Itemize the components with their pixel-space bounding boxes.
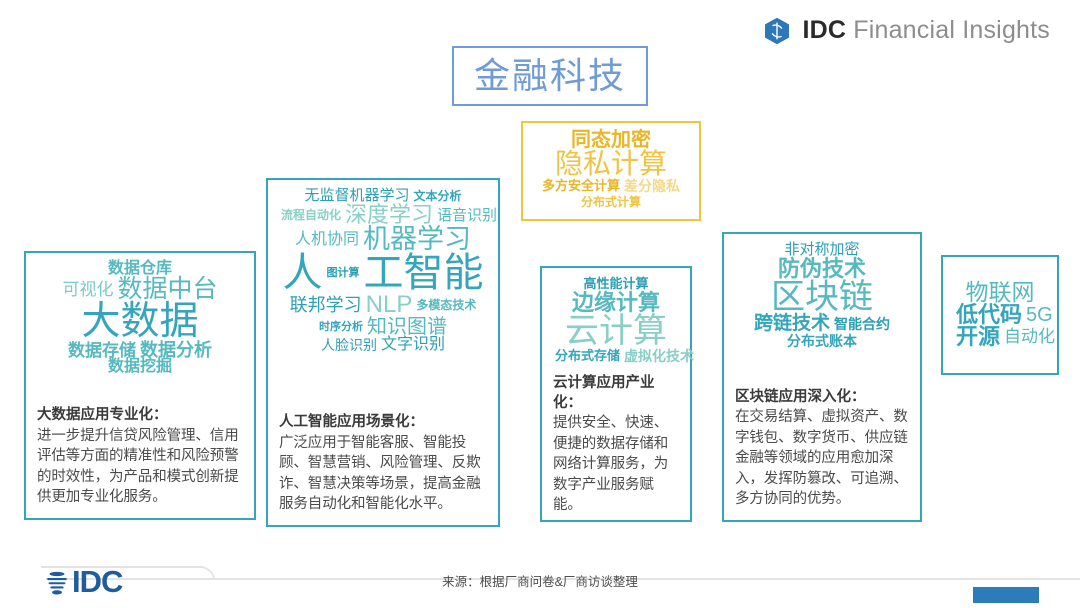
word-cloud-term: 数据挖掘 [108,359,172,375]
word-cloud-iot: 物联网低代码5G开源自动化 [954,281,1046,348]
tech-card-blockchain: 非对称加密防伪技术区块链跨链技术智能合约分布式账本 区块链应用深入化： 在交易结… [722,232,922,522]
tech-card-iot: 物联网低代码5G开源自动化 [941,255,1059,375]
word-cloud-term: 多模态技术 [416,299,476,311]
word-cloud-term: 数据中台 [117,277,217,302]
word-cloud-term: 人 [283,253,323,293]
word-cloud-term: 差分隐私 [624,179,680,193]
corner-accent-block [973,587,1039,603]
word-cloud-term: 联邦学习 [290,296,362,314]
tech-card-bigdata: 数据仓库可视化数据中台大数据数据存储数据分析数据挖掘 大数据应用专业化： 进一步… [24,251,256,520]
word-cloud-term: 同态加密 [571,130,651,150]
word-cloud-term: 文本分析 [414,190,462,202]
word-cloud-line: 分布式账本 [735,333,909,349]
word-cloud-term: 5G [1026,305,1053,325]
page-title: 金融科技 [452,46,648,106]
word-cloud-term: 开源 [956,326,1000,348]
word-cloud-blockchain: 非对称加密防伪技术区块链跨链技术智能合约分布式账本 [735,242,909,349]
word-cloud-term: 虚拟化技术 [624,349,694,363]
word-cloud-term: 云计算 [565,314,667,348]
word-cloud-term: 跨链技术 [754,314,830,333]
word-cloud-line: 同态加密 [534,130,688,150]
word-cloud-line: 跨链技术智能合约 [735,314,909,333]
word-cloud-term: 图计算 [327,268,360,279]
word-cloud-ai: 无监督机器学习文本分析流程自动化深度学习语音识别人机协同机器学习人图计算工智能联… [279,188,487,353]
word-cloud-line: 人脸识别文字识别 [279,337,487,353]
word-cloud-term: 分布式存储 [555,349,620,362]
word-cloud-term: 多方安全计算 [542,179,620,192]
word-cloud-term: 时序分析 [319,322,363,333]
page-title-label: 金融科技 [474,58,626,94]
idc-hex-logo-icon [764,17,790,45]
source-note: 来源：根据厂商问卷&厂商访谈整理 [0,571,1080,590]
word-cloud-term: 人机协同 [295,232,359,248]
word-cloud-term: 文字识别 [381,337,445,353]
word-cloud-term: 数据存储 [68,342,136,359]
word-cloud-term: 高性能计算 [583,277,648,290]
card-body-text: 进一步提升信贷风险管理、信用评估等方面的精准性和风险预警的时效性，为产品和模式创… [37,426,243,508]
word-cloud-line: 云计算 [553,314,679,348]
card-body-text: 在交易结算、虚拟资产、数字钱包、数字货币、供应链金融等领域的应用愈加深入，发挥防… [735,407,909,510]
word-cloud-term: 工智能 [364,253,484,293]
word-cloud-line: 边缘计算 [553,292,679,314]
word-cloud-line: 人机协同机器学习 [279,226,487,253]
tech-card-privacy-computing: 同态加密隐私计算多方安全计算差分隐私分布式计算 [521,121,701,221]
word-cloud-line: 分布式计算 [534,194,688,210]
word-cloud-line: 人图计算工智能 [279,253,487,293]
word-cloud-line: 防伪技术 [735,258,909,280]
word-cloud-line: 大数据 [37,302,243,341]
word-cloud-term: 分布式计算 [581,196,641,208]
word-cloud-line: 时序分析知识图谱 [279,317,487,337]
word-cloud-privacy-computing: 同态加密隐私计算多方安全计算差分隐私分布式计算 [534,130,688,210]
card-body-heading: 云计算应用产业化： [553,364,679,413]
card-body-text: 提供安全、快速、便捷的数据存储和网络计算服务，为数字产业服务赋能。 [553,413,679,516]
word-cloud-term: 低代码 [956,304,1022,326]
word-cloud-term: 机器学习 [363,226,471,253]
word-cloud-line: 多方安全计算差分隐私 [534,178,688,194]
tech-card-cloud-computing: 高性能计算边缘计算云计算分布式存储虚拟化技术 云计算应用产业化： 提供安全、快速… [540,266,692,522]
word-cloud-line: 联邦学习NLP多模态技术 [279,293,487,317]
word-cloud-term: NLP [366,293,413,317]
word-cloud-line: 隐私计算 [534,150,688,178]
word-cloud-term: 可视化 [62,281,113,298]
word-cloud-term: 人脸识别 [321,338,377,352]
word-cloud-term: 流程自动化 [281,209,341,221]
word-cloud-term: 区块链 [771,280,873,314]
word-cloud-line: 区块链 [735,280,909,314]
card-body-heading: 人工智能应用场景化： [279,403,487,433]
word-cloud-term: 大数据 [81,302,198,341]
word-cloud-line: 开源自动化 [954,326,1046,348]
word-cloud-cloud-computing: 高性能计算边缘计算云计算分布式存储虚拟化技术 [553,276,679,364]
word-cloud-line: 低代码5G [954,304,1046,326]
word-cloud-term: 知识图谱 [367,317,447,337]
word-cloud-line: 数据挖掘 [37,359,243,375]
tech-card-ai: 无监督机器学习文本分析流程自动化深度学习语音识别人机协同机器学习人图计算工智能联… [266,178,500,527]
word-cloud-term: 分布式账本 [787,334,857,348]
word-cloud-bigdata: 数据仓库可视化数据中台大数据数据存储数据分析数据挖掘 [37,261,243,375]
card-body-heading: 区块链应用深入化： [735,378,909,408]
word-cloud-term: 智能合约 [834,317,890,331]
word-cloud-term: 自动化 [1004,328,1055,345]
word-cloud-line: 可视化数据中台 [37,277,243,302]
word-cloud-term: 语音识别 [437,208,497,223]
word-cloud-term: 深度学习 [345,204,433,226]
brand-name-bold: IDC [802,16,846,44]
brand-name: IDC Financial Insights [802,16,1050,45]
word-cloud-line: 分布式存储虚拟化技术 [553,348,679,364]
word-cloud-line: 数据存储数据分析 [37,341,243,359]
word-cloud-term: 隐私计算 [555,150,667,178]
card-body-text: 广泛应用于智能客服、智能投顾、智慧营销、风险管理、反欺诈、智慧决策等场景，提高金… [279,433,487,515]
word-cloud-term: 防伪技术 [778,258,866,280]
word-cloud-term: 物联网 [966,281,1035,304]
brand-name-light: Financial Insights [846,16,1050,44]
word-cloud-term: 边缘计算 [572,292,660,314]
word-cloud-term: 数据分析 [140,341,212,359]
word-cloud-line: 流程自动化深度学习语音识别 [279,204,487,226]
card-body-heading: 大数据应用专业化： [37,396,243,426]
idc-brand-header: IDC Financial Insights [764,16,1050,45]
word-cloud-line: 物联网 [954,281,1046,304]
